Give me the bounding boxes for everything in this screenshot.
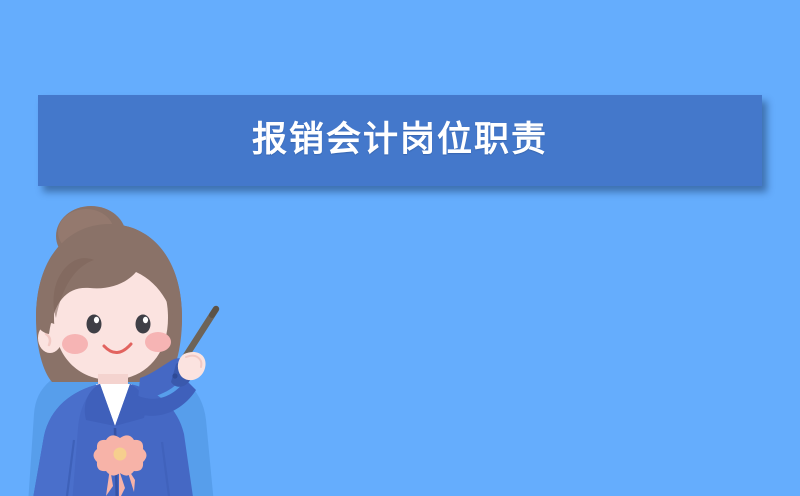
hand [178, 352, 206, 380]
left-eye [87, 315, 102, 334]
left-blush [62, 334, 88, 354]
poster-canvas: 报销会计岗位职责 [0, 0, 800, 496]
right-eye [136, 315, 151, 334]
title-banner: 报销会计岗位职责 [38, 95, 762, 186]
character-illustration [16, 214, 246, 496]
right-blush [145, 332, 171, 352]
page-title: 报销会计岗位职责 [252, 123, 548, 158]
